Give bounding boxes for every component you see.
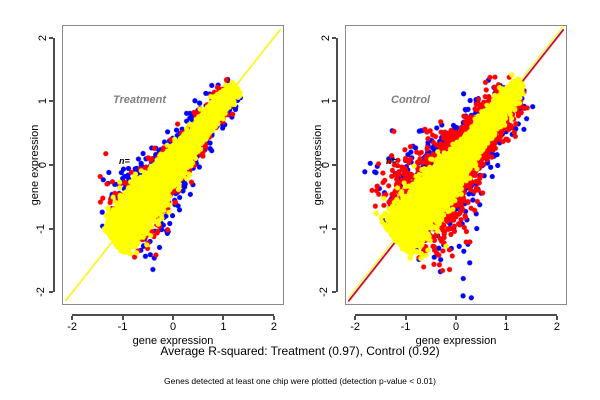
plot-panel-control: Control n= [345, 25, 567, 305]
x-tick-control-1 [405, 316, 407, 320]
y-ticklabel-text: 1 [37, 98, 49, 104]
y-axis-title-treatment: gene expression [29, 125, 41, 206]
y-ticklabel-text: 2 [320, 35, 332, 41]
x-ticklabel-control-3: 1 [503, 321, 509, 333]
y-axis-line-control [336, 38, 338, 293]
x-tick-control-2 [455, 316, 457, 320]
y-axis-title-control: gene expression [312, 125, 324, 206]
x-ticklabel-control-1: -1 [401, 321, 411, 333]
y-ticklabel-text: 2 [37, 35, 49, 41]
y-ticklabel-treatment-1: -1 [36, 223, 46, 235]
y-tick-treatment-1 [49, 228, 53, 230]
y-tick-control-1 [332, 228, 336, 230]
y-ticklabel-control-4: 2 [323, 32, 329, 44]
scatter-canvas-treatment [63, 26, 283, 304]
y-tick-treatment-3 [49, 100, 53, 102]
plot-panel-treatment: Treatment n= [62, 25, 284, 305]
x-ticklabel-treatment-2: 0 [170, 321, 176, 333]
x-tick-treatment-2 [172, 316, 174, 320]
y-tick-treatment-4 [49, 37, 53, 39]
x-ticklabel-treatment-4: 2 [271, 321, 277, 333]
y-axis-line-treatment [53, 38, 55, 293]
x-tick-treatment-1 [122, 316, 124, 320]
figure-root: Treatment n= Control n= -2-1012gene expr… [0, 0, 600, 400]
x-ticklabel-control-2: 0 [453, 321, 459, 333]
y-tick-control-4 [332, 37, 336, 39]
x-tick-control-0 [354, 316, 356, 320]
x-tick-control-4 [556, 316, 558, 320]
y-tick-control-0 [332, 291, 336, 293]
y-tick-treatment-2 [49, 164, 53, 166]
y-tick-control-3 [332, 100, 336, 102]
y-ticklabel-control-0: -2 [319, 286, 329, 298]
y-ticklabel-treatment-3: 1 [40, 95, 46, 107]
x-ticklabel-control-4: 2 [554, 321, 560, 333]
y-tick-control-2 [332, 164, 336, 166]
y-tick-treatment-0 [49, 291, 53, 293]
caption-detection-note: Genes detected at least one chip were pl… [164, 376, 436, 386]
y-ticklabel-text: 1 [320, 98, 332, 104]
y-ticklabel-text: -2 [318, 287, 330, 297]
y-ticklabel-text: -1 [318, 224, 330, 234]
y-ticklabel-treatment-4: 2 [40, 32, 46, 44]
y-ticklabel-treatment-0: -2 [36, 286, 46, 298]
x-tick-control-3 [505, 316, 507, 320]
x-ticklabel-control-0: -2 [350, 321, 360, 333]
scatter-canvas-control [346, 26, 566, 304]
y-ticklabel-text: -1 [35, 224, 47, 234]
x-ticklabel-treatment-3: 1 [220, 321, 226, 333]
x-tick-treatment-3 [222, 316, 224, 320]
x-ticklabel-treatment-0: -2 [67, 321, 77, 333]
x-tick-treatment-0 [71, 316, 73, 320]
x-ticklabel-treatment-1: -1 [118, 321, 128, 333]
y-ticklabel-control-3: 1 [323, 95, 329, 107]
y-ticklabel-control-1: -1 [319, 223, 329, 235]
y-ticklabel-text: -2 [35, 287, 47, 297]
caption-average-r-squared: Average R-squared: Treatment (0.97), Con… [160, 344, 439, 358]
x-tick-treatment-4 [273, 316, 275, 320]
